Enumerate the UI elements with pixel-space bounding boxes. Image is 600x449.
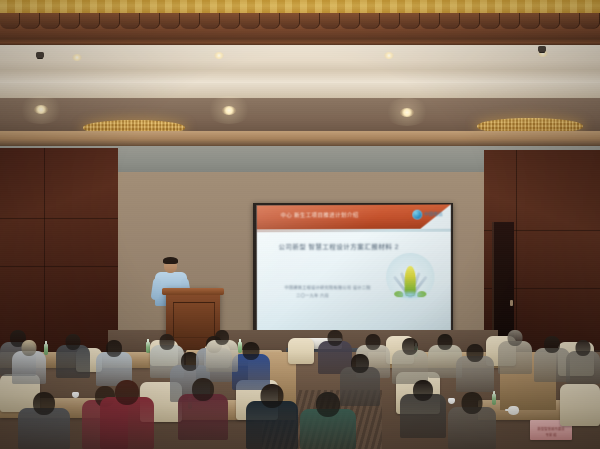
audience-member xyxy=(300,392,356,449)
slide-subtitle-line-1: 中国建筑工程设计研究院有限公司 设计二院 xyxy=(284,285,370,291)
audience-member-head xyxy=(576,340,591,356)
audience-member-head xyxy=(438,334,453,350)
audience-member-head xyxy=(328,330,343,346)
slide-title: 公司新型 智慧工程设计方案汇报材料 2 xyxy=(279,241,399,251)
presenter-hair xyxy=(163,257,178,264)
teapot[interactable] xyxy=(508,406,519,415)
audience-member xyxy=(534,336,570,382)
downlight-2 xyxy=(214,52,224,59)
audience-member-head xyxy=(66,334,81,350)
audience-member-head xyxy=(544,336,560,353)
ceiling-band-cove xyxy=(0,70,600,84)
audience-member xyxy=(456,344,494,392)
audience-member-torso xyxy=(392,350,428,384)
audience-member-head xyxy=(192,378,214,401)
ceiling-band-lower xyxy=(0,83,600,99)
slide-header-band-tail xyxy=(257,229,451,233)
side-doorway[interactable] xyxy=(492,222,514,340)
left-wall-seam-2 xyxy=(0,266,118,267)
downlight-1 xyxy=(72,54,82,61)
podium-top xyxy=(162,288,224,295)
audience-member xyxy=(100,380,154,449)
audience-member-head xyxy=(22,340,37,356)
audience-member xyxy=(246,384,298,449)
audience-member-head xyxy=(215,330,229,345)
audience-member xyxy=(178,378,228,440)
conference-hall-photo: 中心 新生工项目推进计划介绍 中国电信 公司新型 智慧工程设计方案汇报材料 2 … xyxy=(0,0,600,449)
slide-company-logo: 中国电信 xyxy=(412,210,443,220)
name-placard-line-1: 新型智慧城市建设 xyxy=(537,426,564,431)
audience-member-torso xyxy=(246,401,298,449)
ceiling-band-upper xyxy=(0,45,600,71)
audience-member-head xyxy=(106,340,122,357)
audience-member xyxy=(18,392,70,449)
audience-member-head xyxy=(413,380,433,401)
audience-member xyxy=(448,392,496,449)
slide-header-text: 中心 新生工项目推进计划介绍 xyxy=(281,211,359,219)
audience-member xyxy=(56,334,90,378)
audience-member xyxy=(206,330,238,372)
audience-member xyxy=(12,340,46,384)
right-wall-seam-3 xyxy=(516,150,517,350)
audience-member-head xyxy=(462,392,483,414)
audience-member-head xyxy=(351,354,369,373)
ceiling-camera-right-icon xyxy=(538,46,546,52)
audience-member xyxy=(566,340,600,384)
projection-screen: 中心 新生工项目推进计划介绍 中国电信 公司新型 智慧工程设计方案汇报材料 2 … xyxy=(257,204,451,331)
left-wall-seam-3 xyxy=(44,148,45,363)
downlight-halo-3 xyxy=(384,98,430,126)
chair xyxy=(288,338,314,364)
audience-member-head xyxy=(261,384,284,408)
audience-member-head xyxy=(366,334,381,350)
audience-member-head xyxy=(160,334,175,350)
door-handle[interactable] xyxy=(510,300,513,306)
audience-member-head xyxy=(243,342,260,360)
chair xyxy=(560,384,600,426)
audience-member-head xyxy=(402,338,418,355)
downlight-halo-1 xyxy=(18,96,64,124)
company-logo-text: 中国电信 xyxy=(424,212,443,218)
ceiling-wave-trim xyxy=(0,13,600,29)
slide-artwork xyxy=(386,253,434,301)
audience-member-head xyxy=(115,380,139,405)
downlight-3 xyxy=(384,52,394,59)
audience-member xyxy=(392,338,428,384)
audience-member xyxy=(400,380,446,438)
downlight-halo-2 xyxy=(206,96,252,124)
slide-subtitle-line-2: 二〇一九年 六月 xyxy=(296,293,329,299)
audience-member-torso xyxy=(534,348,570,382)
company-logo-icon xyxy=(412,210,422,220)
audience-member xyxy=(498,330,532,374)
audience-member-head xyxy=(508,330,523,346)
ceiling-camera-left-icon xyxy=(36,52,44,58)
audience-member-head xyxy=(467,344,484,362)
audience-member-head xyxy=(316,392,340,417)
ceiling-soffit xyxy=(0,131,600,145)
audience-member-head xyxy=(33,392,55,415)
left-wall-seam-1 xyxy=(0,218,118,219)
name-placard-line-2: 专家 组 xyxy=(545,432,556,437)
